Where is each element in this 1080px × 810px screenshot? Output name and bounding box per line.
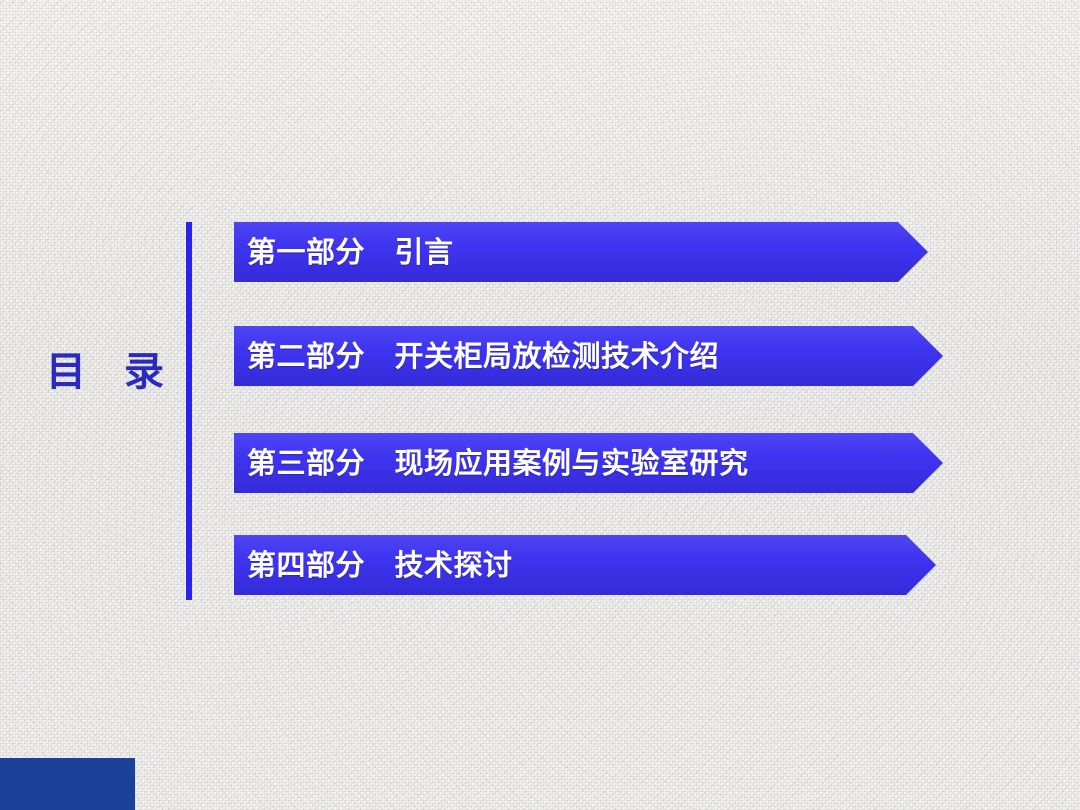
- toc-item-label-3: 第三部分 现场应用案例与实验室研究: [234, 449, 749, 478]
- toc-item-label-1: 第一部分 引言: [234, 238, 454, 267]
- toc-item-label-4: 第四部分 技术探讨: [234, 551, 513, 580]
- toc-item-label-2: 第二部分 开关柜局放检测技术介绍: [234, 342, 719, 371]
- table-of-contents-list: 第一部分 引言 第二部分 开关柜局放检测技术介绍 第三部分 现场应用案例与实验室…: [234, 222, 994, 612]
- list-item[interactable]: 第三部分 现场应用案例与实验室研究: [234, 433, 943, 493]
- list-item[interactable]: 第二部分 开关柜局放检测技术介绍: [234, 326, 943, 386]
- list-item[interactable]: 第一部分 引言: [234, 222, 928, 282]
- vertical-accent-rule: [186, 222, 192, 600]
- corner-decoration-block: [0, 758, 135, 810]
- page-title: 目 录: [30, 352, 180, 392]
- presentation-slide: 目 录 第一部分 引言 第二部分 开关柜局放检测技术介绍 第三部分 现场应用案例…: [0, 0, 1080, 810]
- list-item[interactable]: 第四部分 技术探讨: [234, 535, 936, 595]
